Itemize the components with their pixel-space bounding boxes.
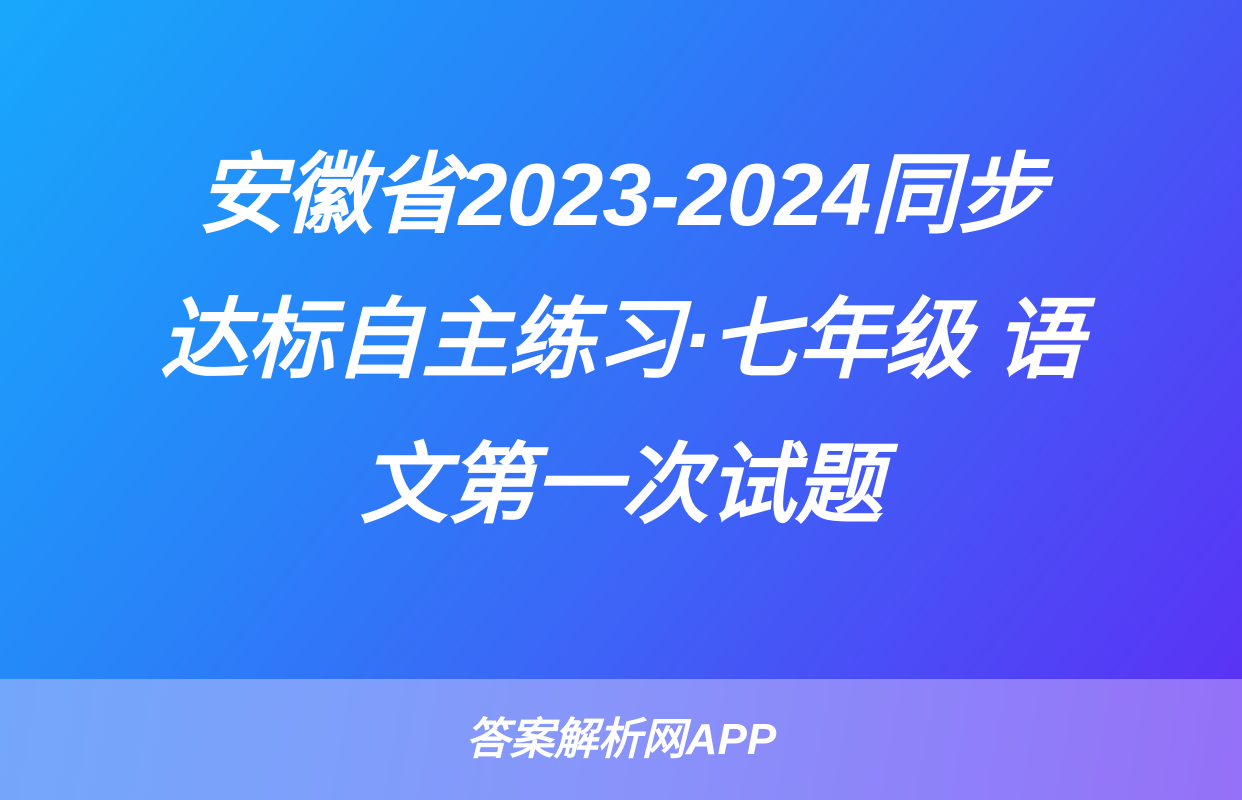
title-line-3: 文第一次试题 <box>116 412 1126 557</box>
title-banner: 安徽省2023-2024同步 达标自主练习·七年级 语 文第一次试题 <box>0 0 1242 679</box>
watermark-banner: 答案解析网APP <box>0 679 1242 800</box>
app-watermark-label: 答案解析网APP <box>466 718 776 762</box>
exam-title: 安徽省2023-2024同步 达标自主练习·七年级 语 文第一次试题 <box>106 122 1136 557</box>
title-line-2: 达标自主练习·七年级 语 <box>116 267 1126 412</box>
title-line-1: 安徽省2023-2024同步 <box>116 122 1126 267</box>
exam-cover-card: 安徽省2023-2024同步 达标自主练习·七年级 语 文第一次试题 答案解析网… <box>0 0 1242 800</box>
